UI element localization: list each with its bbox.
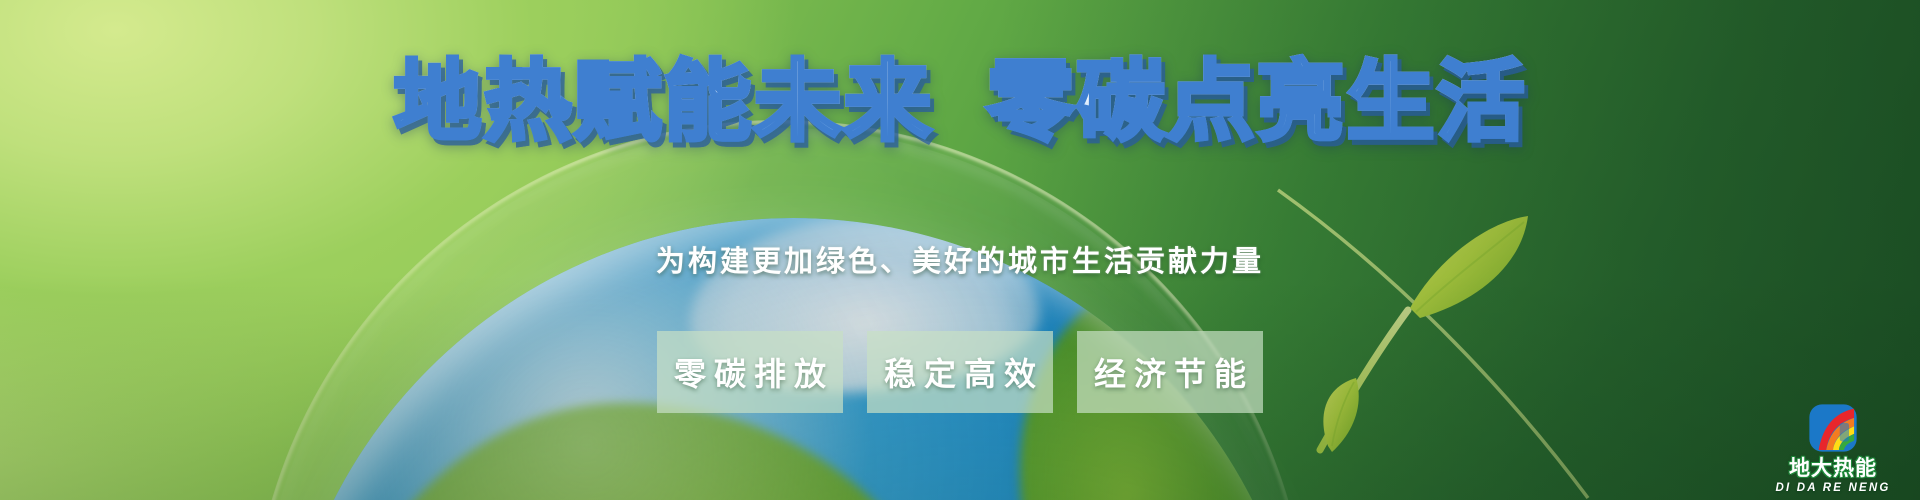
- rainbow-swoosh-rounded-square-icon: [1806, 401, 1860, 455]
- green-sprout-icon: [1270, 150, 1600, 500]
- brand-name-cn: 地大热能: [1789, 458, 1877, 480]
- feature-tag-zero-carbon: 零碳排放: [657, 331, 843, 413]
- page-subtitle: 为构建更加绿色、美好的城市生活贡献力量: [0, 238, 1920, 280]
- page-title: 地热赋能未来 零碳点亮生活: [0, 54, 1920, 149]
- feature-tag-stable-efficient: 稳定高效: [867, 331, 1053, 413]
- brand-name-en: DI DA RE NENG: [1775, 482, 1890, 494]
- promo-banner: 地热赋能未来 零碳点亮生活 为构建更加绿色、美好的城市生活贡献力量 零碳排放 稳…: [0, 0, 1920, 500]
- feature-tag-row: 零碳排放 稳定高效 经济节能: [0, 331, 1920, 413]
- brand-logo[interactable]: 地大热能 DI DA RE NENG: [1768, 401, 1898, 494]
- feature-tag-economical: 经济节能: [1077, 331, 1263, 413]
